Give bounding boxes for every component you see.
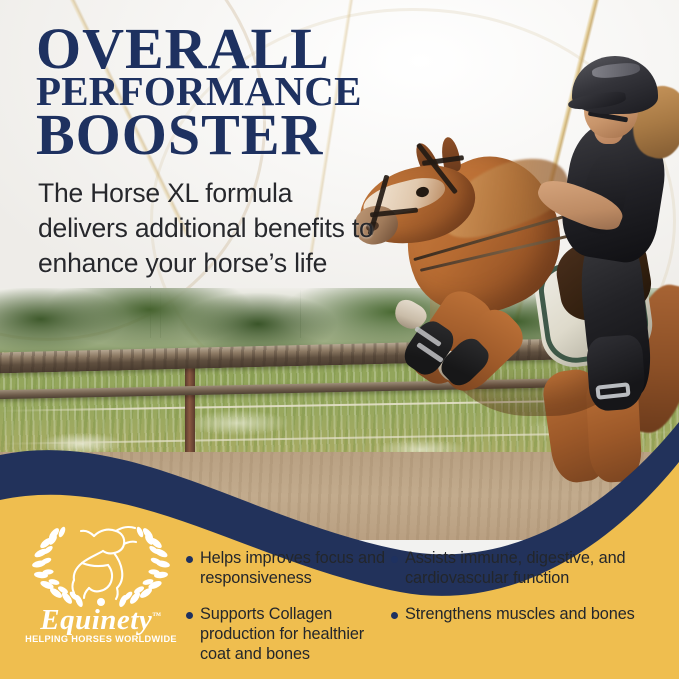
benefit-text: Strengthens muscles and bones [405,605,656,625]
benefit-item: Assists immune, digestive, and cardiovas… [391,549,656,589]
benefit-text: Assists immune, digestive, and cardiovas… [405,549,656,589]
product-banner: OVERALL PERFORMANCE BOOSTER The Horse XL… [0,0,679,679]
bullet-dot-icon [391,556,398,563]
headline: OVERALL PERFORMANCE BOOSTER [36,22,436,161]
subheadline: The Horse XL formula delivers additional… [38,176,388,281]
headline-line-3: BOOSTER [36,108,436,161]
brand-logo: Equinety™ HELPING HORSES WORLDWIDE [22,522,180,650]
brand-name-text: Equinety [40,604,152,636]
benefit-item: Helps improves focus and responsiveness [186,549,391,589]
benefit-item: Strengthens muscles and bones [391,605,656,665]
benefits-list: Helps improves focus and responsiveness … [186,549,666,664]
headline-line-1: OVERALL [36,22,436,75]
bullet-dot-icon [186,612,193,619]
benefit-item: Supports Collagen production for healthi… [186,605,391,665]
brand-name: Equinety™ [22,604,180,637]
bullet-dot-icon [186,556,193,563]
bullet-dot-icon [391,612,398,619]
horse-in-laurel-wreath-icon [28,522,174,608]
benefit-text: Helps improves focus and responsiveness [200,549,391,589]
brand-tagline: HELPING HORSES WORLDWIDE [22,634,180,644]
trademark-symbol: ™ [152,610,162,620]
benefit-text: Supports Collagen production for healthi… [200,605,391,665]
